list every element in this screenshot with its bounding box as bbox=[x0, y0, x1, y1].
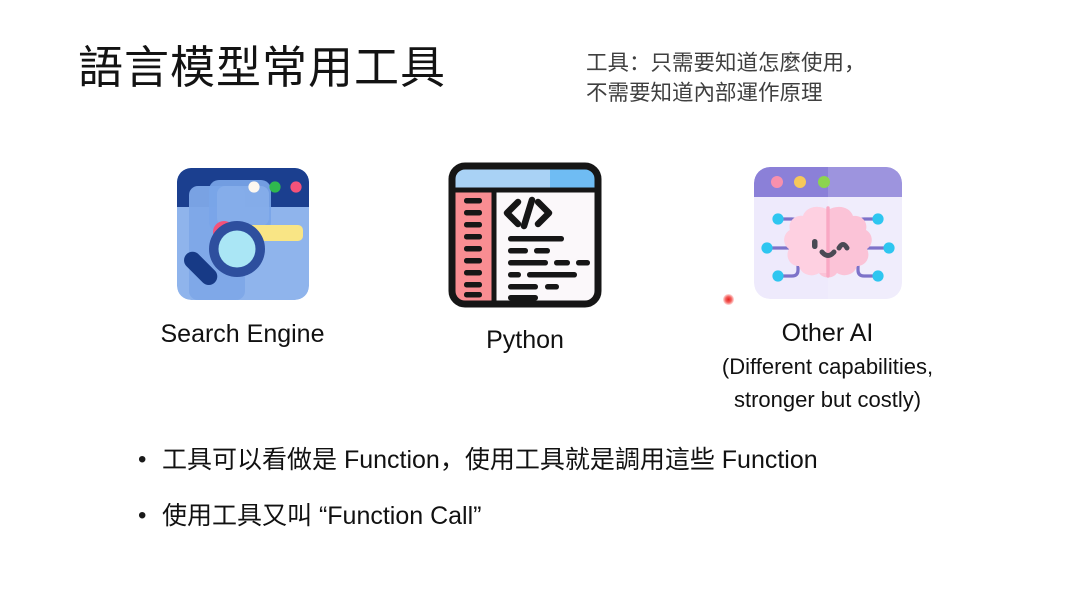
red-speck-artifact bbox=[723, 294, 734, 305]
search-engine-icon-wrap bbox=[110, 160, 375, 309]
magnifier-lens bbox=[218, 231, 255, 268]
bullet-marker-icon: • bbox=[138, 440, 162, 480]
tool-card-other-ai: Other AI (Different capabilities, strong… bbox=[690, 160, 965, 416]
code-editor-icon-wrap bbox=[400, 160, 650, 315]
dot-pink bbox=[771, 176, 783, 188]
page-title: 語言模型常用工具 bbox=[78, 40, 446, 96]
bullet-item-2: • 使用工具又叫 “Function Call” bbox=[138, 496, 1018, 536]
dot-white bbox=[248, 181, 259, 192]
subtitle-line-1: 工具：只需要知道怎麼使用， bbox=[586, 48, 986, 78]
bullet-item-1: • 工具可以看做是 Function，使用工具就是調用這些 Function bbox=[138, 440, 1018, 480]
tool-card-row: Search Engine bbox=[0, 160, 1080, 420]
ai-brain-icon-wrap bbox=[690, 160, 965, 308]
subtitle-note: 工具：只需要知道怎麼使用， 不需要知道內部運作原理 bbox=[586, 48, 986, 108]
bullet-text-1: 工具可以看做是 Function，使用工具就是調用這些 Function bbox=[162, 440, 818, 480]
card-subline-1: (Different capabilities, bbox=[690, 350, 965, 383]
bullet-marker-icon: • bbox=[138, 496, 162, 536]
ai-brain-icon bbox=[748, 163, 908, 303]
tool-card-python: Python bbox=[400, 160, 650, 357]
card-label-python: Python bbox=[400, 323, 650, 357]
card-subline-2: stronger but costly) bbox=[690, 383, 965, 416]
card-label-search-engine: Search Engine bbox=[110, 317, 375, 351]
sidebar-line-numbers bbox=[464, 198, 482, 298]
dot-green bbox=[269, 181, 280, 192]
bullet-list: • 工具可以看做是 Function，使用工具就是調用這些 Function •… bbox=[138, 440, 1018, 552]
bullet-text-2: 使用工具又叫 “Function Call” bbox=[162, 496, 482, 536]
dot-pink bbox=[290, 181, 301, 192]
slide-canvas: 語言模型常用工具 工具：只需要知道怎麼使用， 不需要知道內部運作原理 bbox=[0, 0, 1080, 599]
search-engine-icon bbox=[173, 164, 313, 304]
dot-green bbox=[818, 176, 830, 188]
tool-card-search-engine: Search Engine bbox=[110, 160, 375, 351]
left-eye bbox=[812, 239, 818, 249]
code-editor-icon bbox=[446, 160, 604, 310]
card-label-other-ai: Other AI bbox=[690, 316, 965, 350]
subtitle-line-2: 不需要知道內部運作原理 bbox=[586, 78, 986, 108]
dot-yellow bbox=[794, 176, 806, 188]
